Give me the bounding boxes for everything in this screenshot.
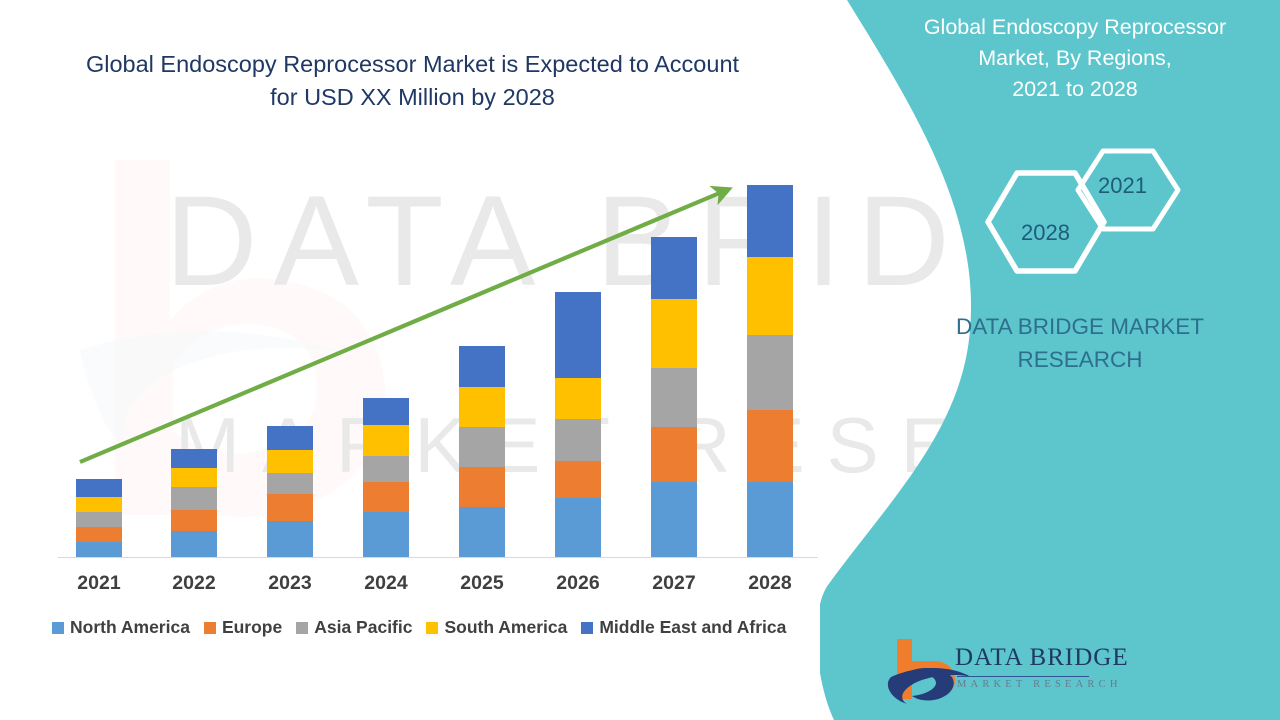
legend-label: South America <box>444 617 567 638</box>
x-tick-2025: 2025 <box>437 572 527 595</box>
hexagon-pair <box>975 145 1195 280</box>
legend-label: Europe <box>222 617 282 638</box>
chart-legend: North AmericaEuropeAsia PacificSouth Ame… <box>52 617 786 638</box>
logo-title: DATA BRIDGE <box>955 644 1129 672</box>
legend-swatch-icon <box>426 622 438 634</box>
legend-label: Asia Pacific <box>314 617 412 638</box>
panel-title: Global Endoscopy Reprocessor Market, By … <box>900 12 1250 105</box>
legend-swatch-icon <box>296 622 308 634</box>
panel-brand-line-1: DATA BRIDGE MARKET <box>956 314 1204 339</box>
x-tick-2027: 2027 <box>629 572 719 595</box>
x-tick-2024: 2024 <box>341 572 431 595</box>
x-tick-2021: 2021 <box>54 572 144 595</box>
hexagon-2028-label: 2028 <box>1021 220 1070 246</box>
panel-brand-line-2: RESEARCH <box>1017 347 1142 372</box>
logo-divider <box>957 676 1089 677</box>
x-tick-2026: 2026 <box>533 572 623 595</box>
x-tick-2022: 2022 <box>149 572 239 595</box>
logo-subtitle: MARKET RESEARCH <box>957 679 1122 690</box>
legend-swatch-icon <box>204 622 216 634</box>
panel-title-line-2: Market, By Regions, <box>978 46 1172 70</box>
panel-title-line-1: Global Endoscopy Reprocessor <box>924 15 1226 39</box>
legend-item-middle-east-and-africa[interactable]: Middle East and Africa <box>581 617 786 638</box>
chart-plot-area: 20212022202320242025202620272028 <box>0 0 860 720</box>
x-tick-2028: 2028 <box>725 572 815 595</box>
legend-label: Middle East and Africa <box>599 617 786 638</box>
panel-title-line-3: 2021 to 2028 <box>1012 77 1138 101</box>
legend-item-asia-pacific[interactable]: Asia Pacific <box>296 617 412 638</box>
slide-canvas: DATA BRIDGE MARKET RESEARCH Global Endos… <box>0 0 1280 720</box>
legend-item-south-america[interactable]: South America <box>426 617 567 638</box>
legend-item-europe[interactable]: Europe <box>204 617 282 638</box>
panel-brand-text: DATA BRIDGE MARKET RESEARCH <box>940 310 1220 376</box>
x-tick-2023: 2023 <box>245 572 335 595</box>
legend-swatch-icon <box>581 622 593 634</box>
hexagon-2021-label: 2021 <box>1098 173 1147 199</box>
legend-label: North America <box>70 617 190 638</box>
legend-swatch-icon <box>52 622 64 634</box>
legend-item-north-america[interactable]: North America <box>52 617 190 638</box>
growth-arrow <box>0 0 860 600</box>
